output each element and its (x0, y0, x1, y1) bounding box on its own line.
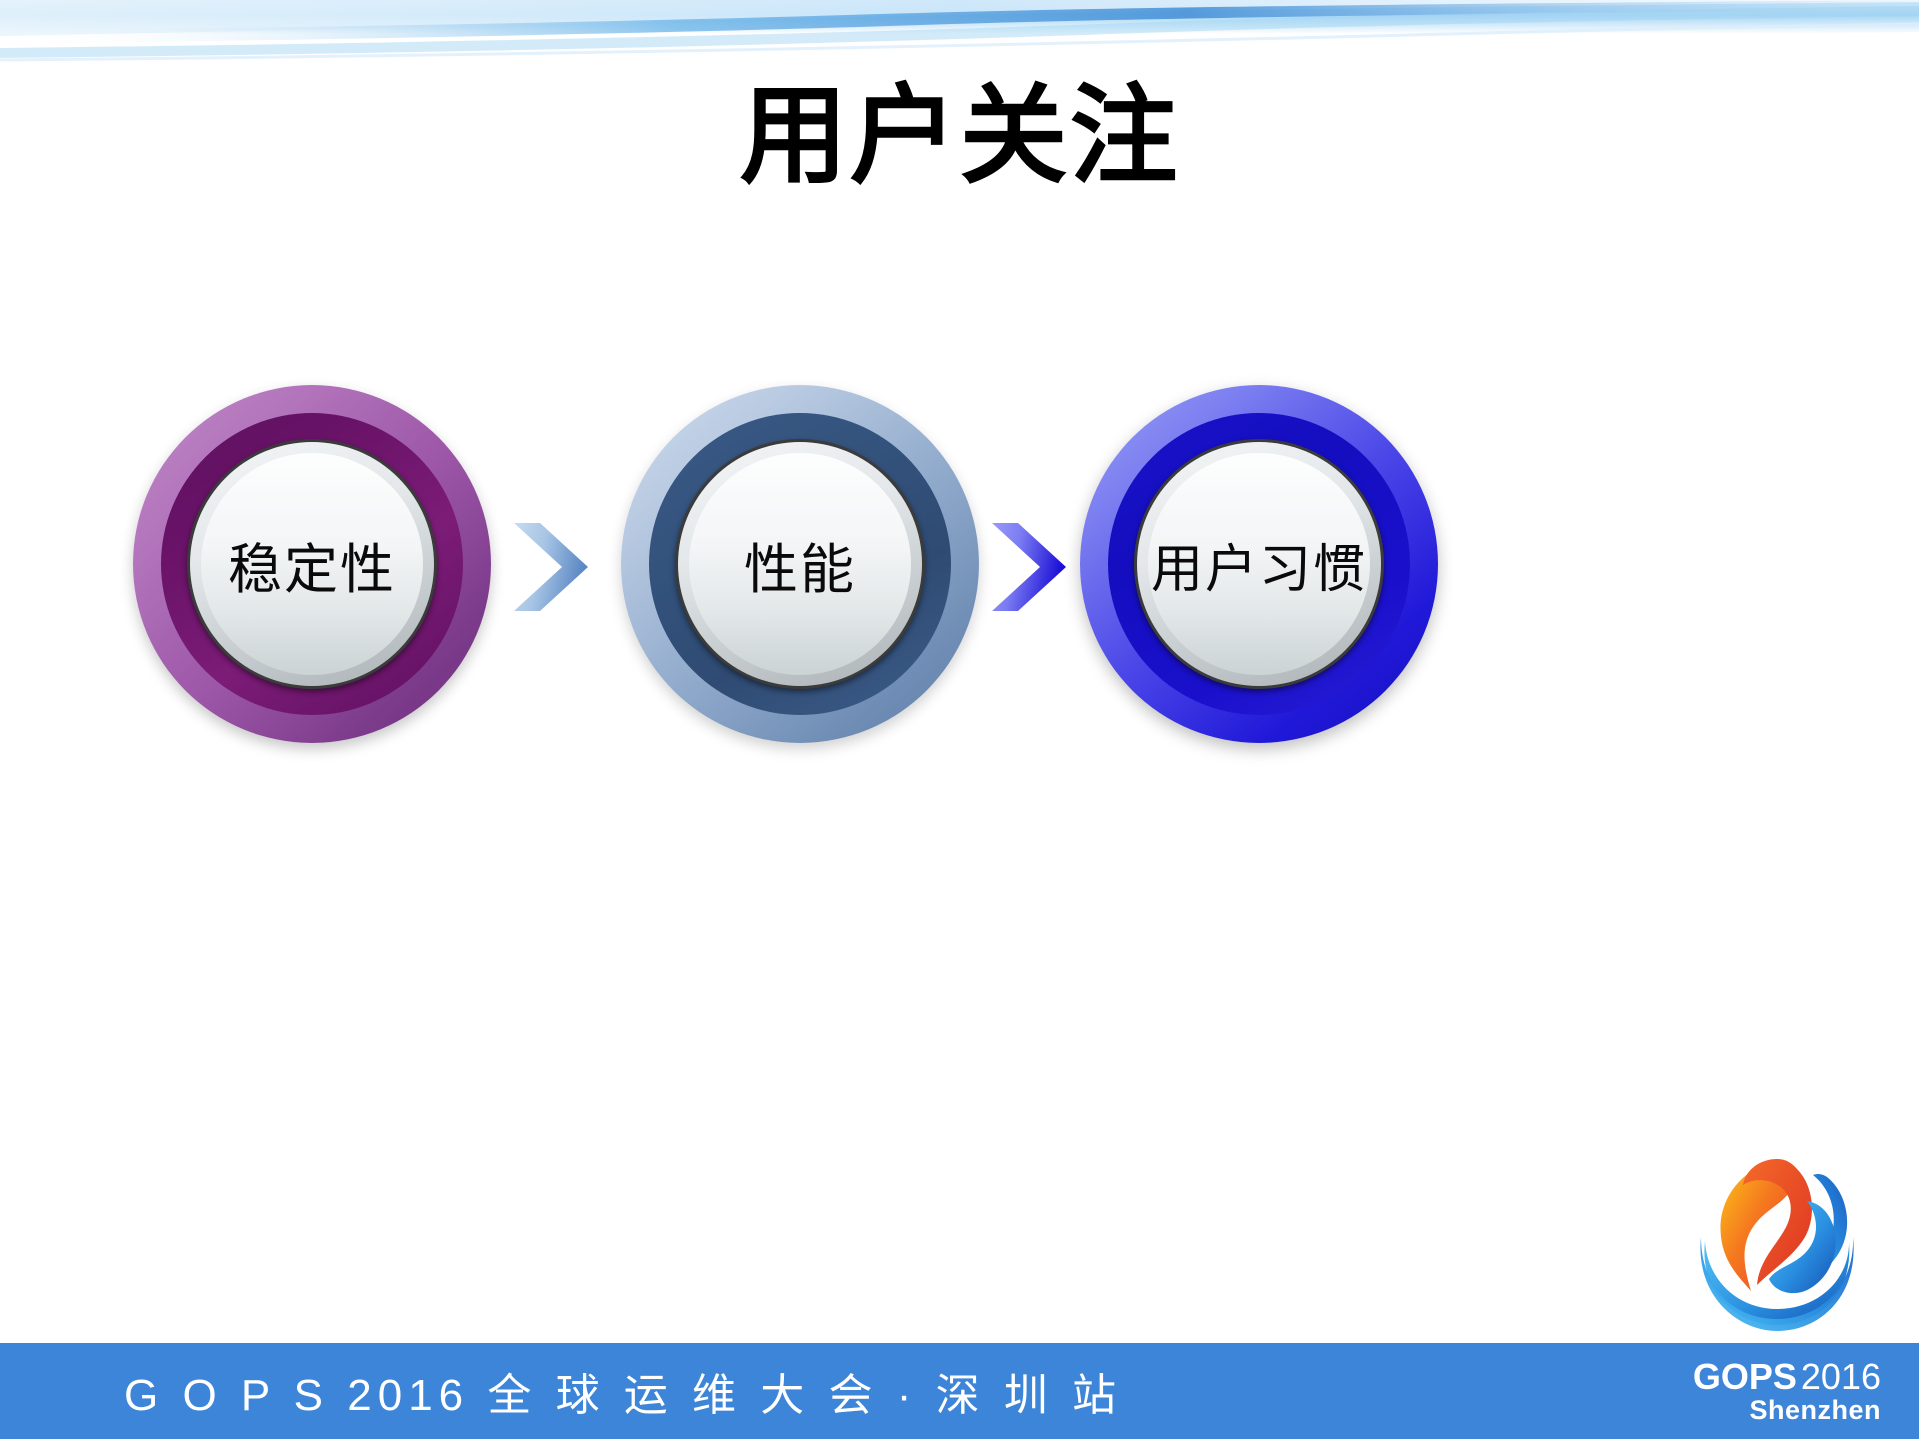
brand-gops-year: GOPS2016 (1693, 1358, 1881, 1396)
brand-year-text: 2016 (1801, 1356, 1881, 1397)
page-title: 用户关注 (0, 68, 1919, 203)
node-label: 用户习惯 (1151, 527, 1367, 602)
diagram-node-user-habits[interactable]: 用户习惯 (1080, 385, 1438, 743)
brand-city-text: Shenzhen (1693, 1396, 1881, 1424)
wave-graphic (0, 0, 1919, 70)
chevron-right-icon (512, 519, 590, 615)
node-face: 性能 (689, 453, 911, 675)
node-face: 稳定性 (201, 453, 423, 675)
chevron-right-icon (990, 519, 1068, 615)
diagram-node-performance[interactable]: 性能 (621, 385, 979, 743)
gops-swirl-logo (1681, 1145, 1863, 1335)
brand-gops-text: GOPS (1693, 1356, 1797, 1397)
node-face: 用户习惯 (1148, 453, 1370, 675)
gops-swirl-logo-graphic (1681, 1145, 1863, 1335)
chevron-arrow-1-graphic (512, 519, 590, 615)
node-label: 性能 (744, 525, 856, 604)
chevron-arrow-2-graphic (990, 519, 1068, 615)
diagram-node-stability[interactable]: 稳定性 (133, 385, 491, 743)
top-wave-decoration (0, 0, 1919, 70)
node-label: 稳定性 (228, 525, 396, 604)
process-flow-diagram: 稳定性 性能 (0, 385, 1919, 785)
footer-brand: GOPS2016 Shenzhen (1693, 1358, 1881, 1424)
footer-conference-title: G O P S 2016 全 球 运 维 大 会 · 深 圳 站 (124, 1359, 1122, 1423)
footer-bar: G O P S 2016 全 球 运 维 大 会 · 深 圳 站 GOPS201… (0, 1343, 1919, 1439)
